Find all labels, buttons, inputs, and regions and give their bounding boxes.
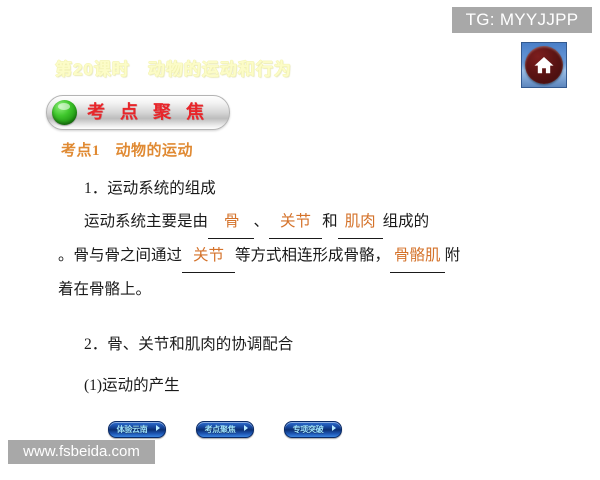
chevron-right-icon <box>332 425 336 431</box>
text-segment: 组成的 <box>383 213 430 230</box>
nav-button-1[interactable]: 体验云南 <box>108 421 166 438</box>
nav-button-1-label: 体验云南 <box>109 422 155 437</box>
blank-answer-jirou: 肌肉 <box>338 205 383 239</box>
lesson-title: 第20课时 动物的运动和行为 <box>55 55 292 80</box>
green-orb-icon <box>52 100 77 125</box>
nav-button-2-label: 考点聚焦 <box>197 422 243 437</box>
home-icon <box>525 46 563 84</box>
paragraph-line-1: 运动系统主要是由骨、关节和肌肉组成的 <box>58 205 578 239</box>
text-segment: 等方式相连形成骨骼， <box>235 247 390 264</box>
paragraph-line-3: 着在骨骼上。 <box>58 273 578 306</box>
blank-answer-gugeji: 骨骼肌 <box>390 239 445 273</box>
text-segment: 。骨与骨之间通过 <box>58 247 182 264</box>
item2-heading: 2．骨、关节和肌肉的协调配合 <box>58 328 578 361</box>
nav-button-3-label: 专项突破 <box>285 422 331 437</box>
home-button[interactable] <box>521 42 567 88</box>
nav-button-3[interactable]: 专项突破 <box>284 421 342 438</box>
blank-answer-guanjie-2: 关节 <box>182 239 235 273</box>
text-segment: 、 <box>254 213 270 230</box>
site-watermark: www.fsbeida.com <box>8 440 155 464</box>
text-segment: 附 <box>445 247 461 264</box>
chevron-right-icon <box>156 425 160 431</box>
item2-sub1: (1)运动的产生 <box>58 369 578 402</box>
chevron-right-icon <box>244 425 248 431</box>
item1-heading: 1．运动系统的组成 <box>58 172 578 205</box>
section-banner-label: 考 点 聚 焦 <box>87 96 209 129</box>
text-segment: 和 <box>322 213 338 230</box>
nav-button-2[interactable]: 考点聚焦 <box>196 421 254 438</box>
blank-answer-guanjie: 关节 <box>269 205 322 239</box>
text-segment: 运动系统主要是由 <box>84 213 208 230</box>
blank-answer-gu: 骨 <box>208 205 254 239</box>
tg-watermark-banner: TG: MYYJJPP <box>452 7 592 33</box>
point-heading: 考点1 动物的运动 <box>61 139 193 160</box>
section-banner: 考 点 聚 焦 <box>46 95 230 130</box>
paragraph-line-2: 。骨与骨之间通过关节等方式相连形成骨骼，骨骼肌附 <box>58 239 578 273</box>
content-body: 1．运动系统的组成 运动系统主要是由骨、关节和肌肉组成的 。骨与骨之间通过关节等… <box>58 172 578 402</box>
